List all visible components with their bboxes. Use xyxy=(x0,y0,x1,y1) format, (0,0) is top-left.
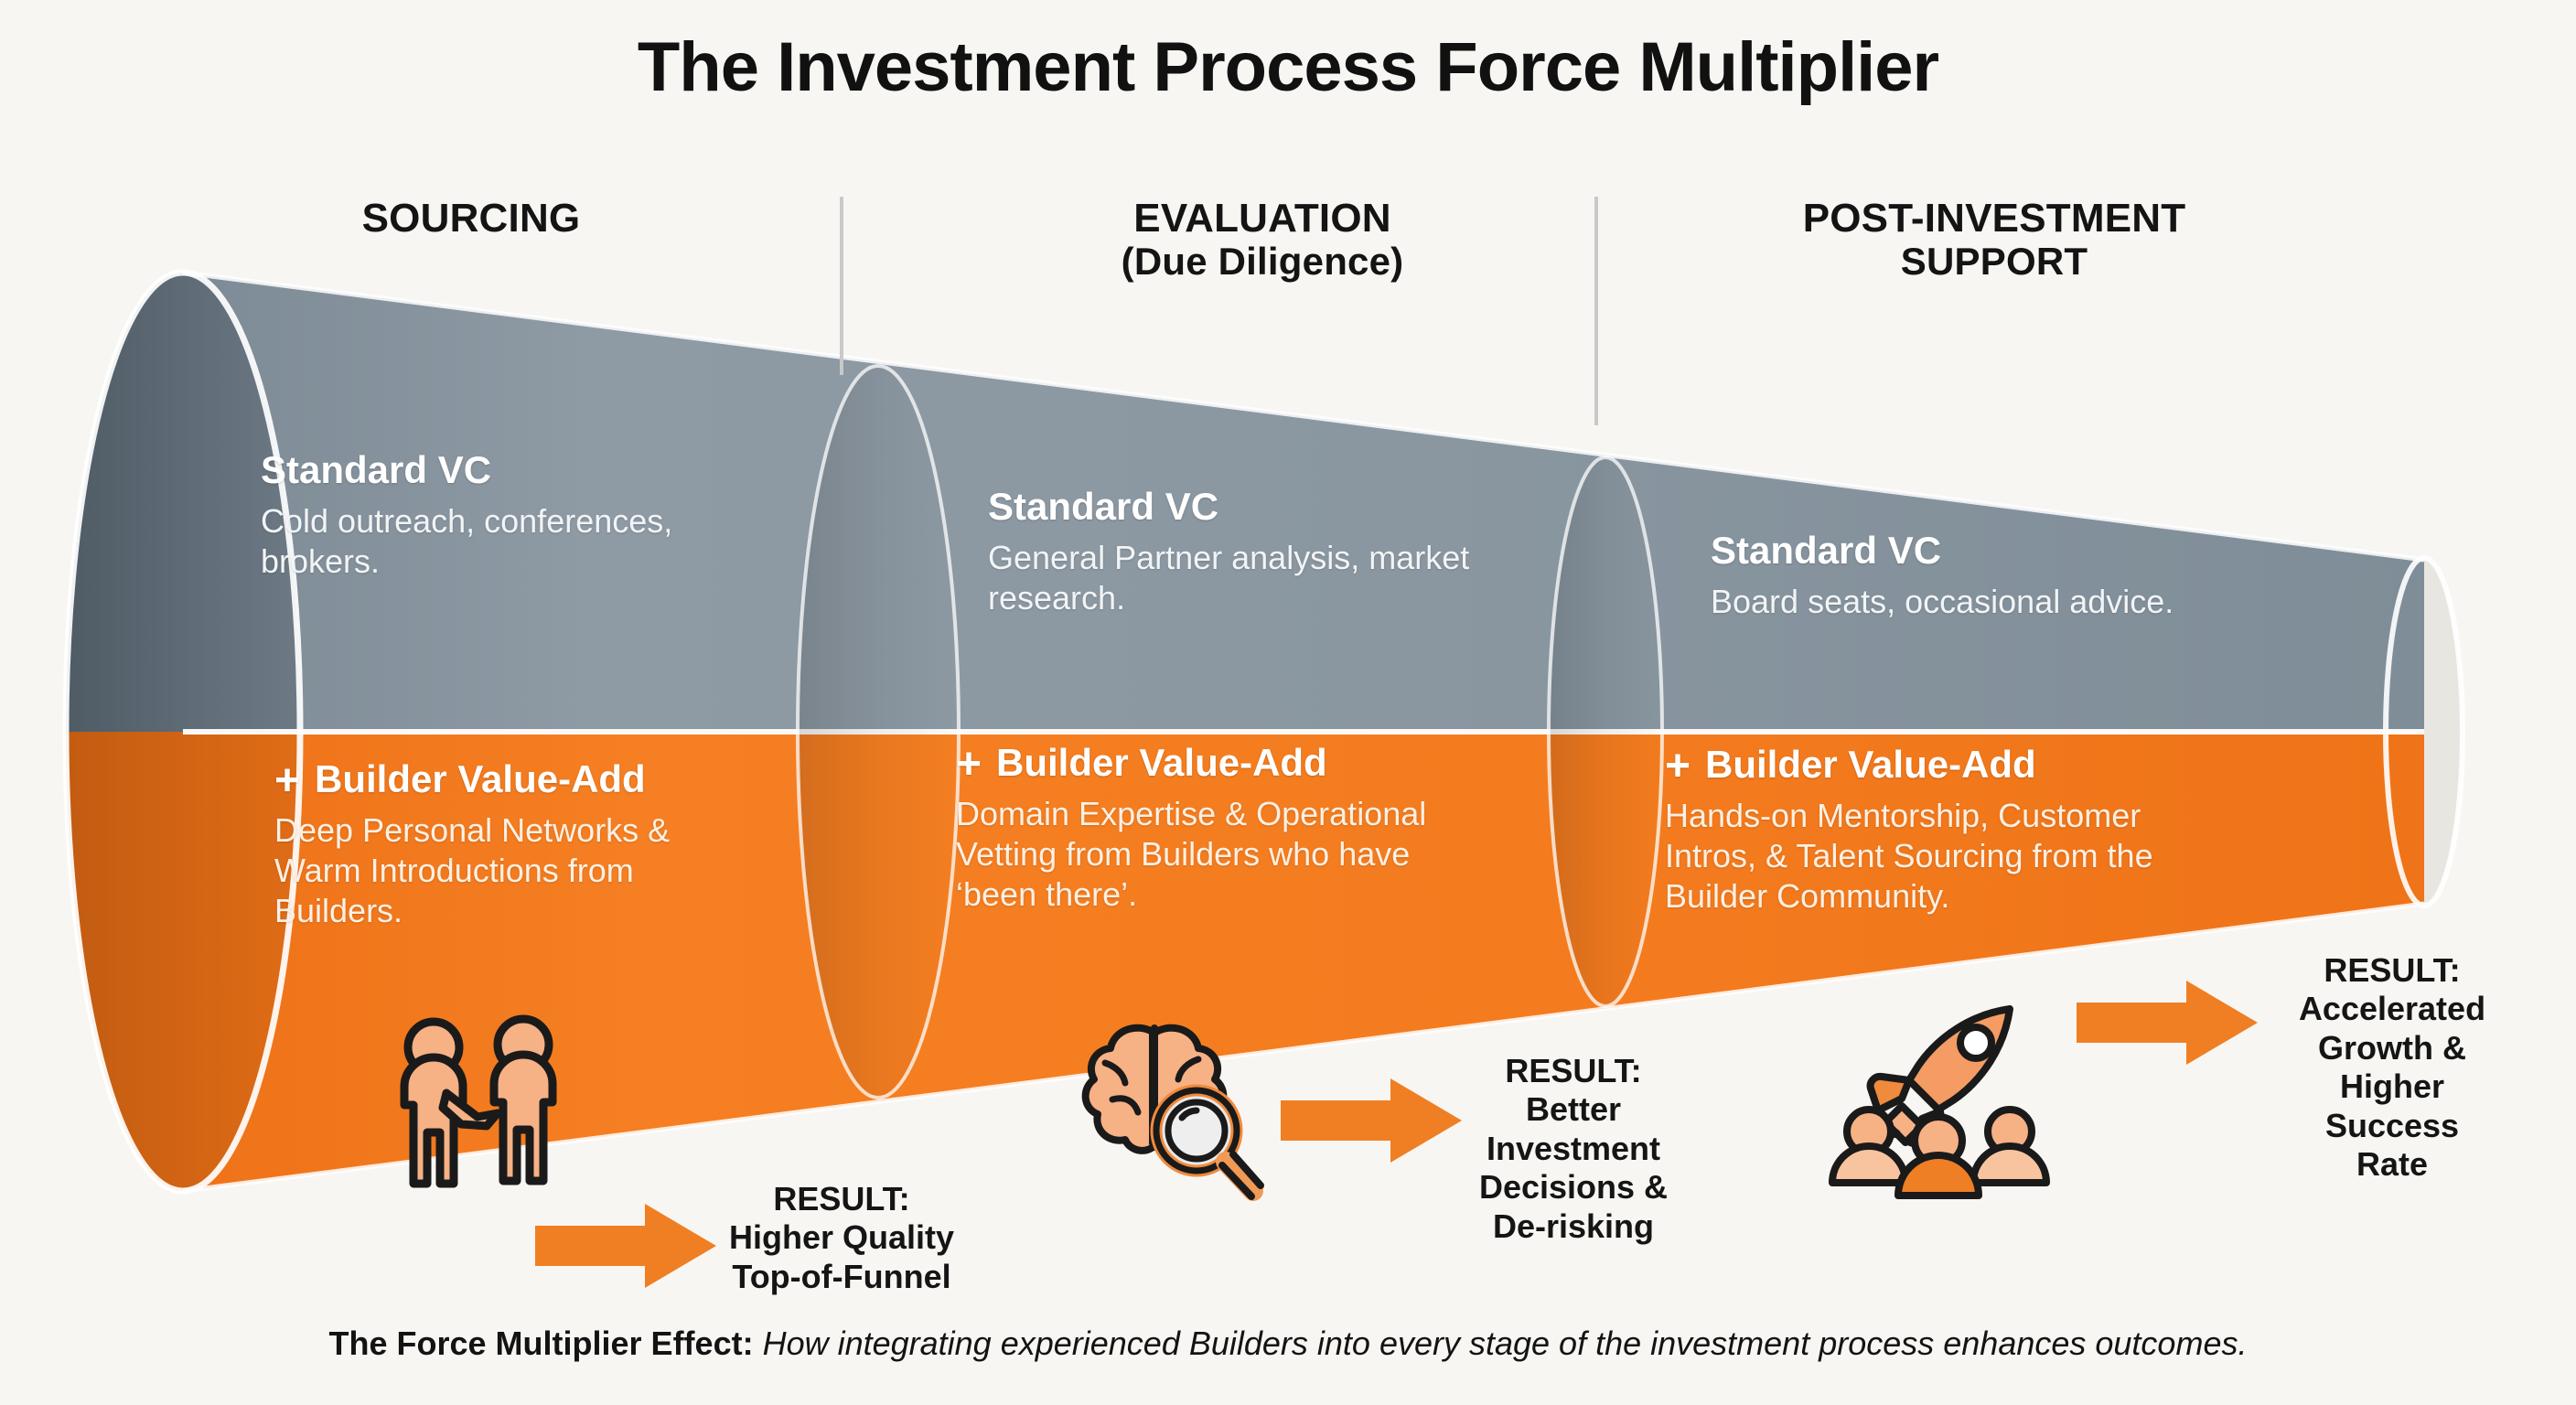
value-add-heading-row: +Builder Value-Add xyxy=(274,757,750,801)
footer-italic-text: How integrating experienced Builders int… xyxy=(754,1325,2248,1362)
result-line: De-risking xyxy=(1445,1207,1701,1246)
value-add-body: Domain Expertise & Operational Vetting f… xyxy=(956,794,1450,915)
value-add-block-evaluation: +Builder Value-Add Domain Expertise & Op… xyxy=(956,741,1450,915)
value-add-heading: Builder Value-Add xyxy=(1705,743,2036,786)
value-add-heading-row: +Builder Value-Add xyxy=(956,741,1450,785)
stage-header-sublabel: SUPPORT xyxy=(1647,241,2342,282)
plus-icon: + xyxy=(274,764,306,799)
standard-vc-block-evaluation: Standard VC General Partner analysis, ma… xyxy=(988,485,1500,618)
result-line: Better xyxy=(1445,1090,1701,1129)
result-line: Higher xyxy=(2259,1067,2525,1106)
brain-magnifier-icon xyxy=(1061,1015,1272,1207)
result-line: Investment xyxy=(1445,1130,1701,1168)
standard-vc-block-sourcing: Standard VC Cold outreach, conferences, … xyxy=(261,448,773,582)
result-line: Rate xyxy=(2259,1145,2525,1184)
result-callout-evaluation: RESULT: Better Investment Decisions & De… xyxy=(1445,1052,1701,1246)
result-line: Higher Quality xyxy=(677,1218,1006,1257)
handshake-icon xyxy=(382,999,611,1196)
value-add-body: Hands-on Mentorship, Customer Intros, & … xyxy=(1665,796,2214,917)
result-arrow-3 xyxy=(2077,977,2259,1068)
result-label: RESULT: xyxy=(2259,951,2525,990)
plus-icon: + xyxy=(1665,749,1696,784)
result-callout-post-investment: RESULT: Accelerated Growth & Higher Succ… xyxy=(2259,951,2525,1185)
result-callout-sourcing: RESULT: Higher Quality Top-of-Funnel xyxy=(677,1180,1006,1296)
value-add-block-sourcing: +Builder Value-Add Deep Personal Network… xyxy=(274,757,750,931)
footer-caption: The Force Multiplier Effect: How integra… xyxy=(0,1325,2576,1363)
value-add-block-post-investment: +Builder Value-Add Hands-on Mentorship, … xyxy=(1665,743,2214,917)
value-add-heading-row: +Builder Value-Add xyxy=(1665,743,2214,787)
value-add-body: Deep Personal Networks & Warm Introducti… xyxy=(274,810,750,931)
footer-bold-label: The Force Multiplier Effect: xyxy=(329,1325,754,1362)
result-line: Accelerated xyxy=(2259,990,2525,1028)
result-line: Growth & xyxy=(2259,1029,2525,1067)
result-arrow-2 xyxy=(1281,1075,1464,1166)
stage-header-label: EVALUATION xyxy=(1133,196,1390,241)
stage-header-label: SOURCING xyxy=(362,196,581,241)
value-add-heading: Builder Value-Add xyxy=(315,757,646,800)
stage-header-evaluation: EVALUATION (Due Diligence) xyxy=(915,197,1610,282)
standard-vc-heading: Standard VC xyxy=(988,485,1500,529)
stage-header-sourcing: SOURCING xyxy=(110,197,832,241)
standard-vc-body: Board seats, occasional advice. xyxy=(1711,582,2223,622)
infographic-canvas: The Investment Process Force Multiplier xyxy=(0,0,2576,1405)
stage-header-post-investment: POST-INVESTMENT SUPPORT xyxy=(1647,197,2342,282)
standard-vc-heading: Standard VC xyxy=(1711,529,2223,573)
result-line: Success xyxy=(2259,1107,2525,1145)
result-line: Decisions & xyxy=(1445,1168,1701,1207)
result-label: RESULT: xyxy=(677,1180,1006,1218)
standard-vc-heading: Standard VC xyxy=(261,448,773,492)
standard-vc-body: General Partner analysis, market researc… xyxy=(988,538,1500,618)
stage-header-sublabel: (Due Diligence) xyxy=(915,241,1610,282)
plus-icon: + xyxy=(956,747,987,782)
result-label: RESULT: xyxy=(1445,1052,1701,1090)
standard-vc-body: Cold outreach, conferences, brokers. xyxy=(261,501,773,582)
rocket-team-icon xyxy=(1816,1002,2063,1207)
standard-vc-block-post-investment: Standard VC Board seats, occasional advi… xyxy=(1711,529,2223,622)
value-add-heading: Builder Value-Add xyxy=(996,741,1327,784)
stage-header-label: POST-INVESTMENT xyxy=(1803,196,2186,241)
result-line: Top-of-Funnel xyxy=(677,1258,1006,1296)
